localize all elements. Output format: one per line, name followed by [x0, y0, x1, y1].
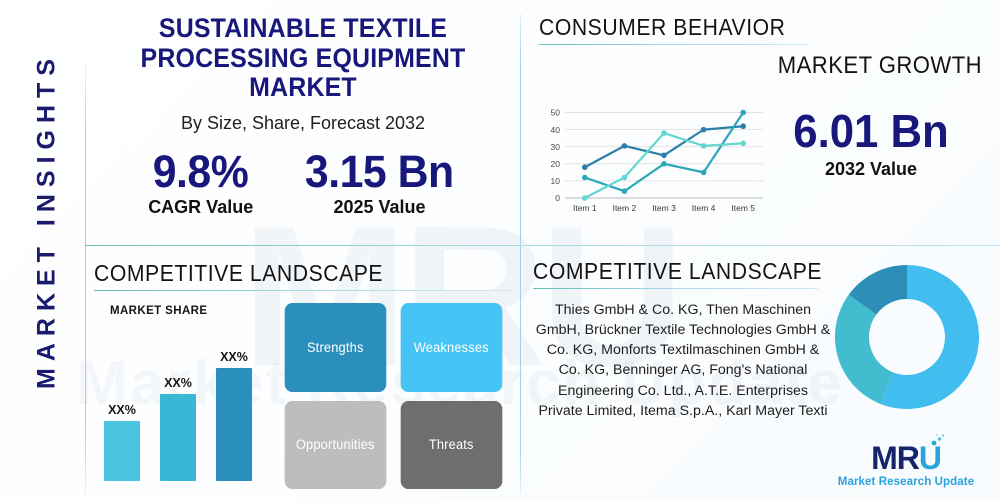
data-point	[701, 170, 707, 176]
stat-2032-caption: 2032 Value	[766, 159, 976, 180]
competitive-landscape-heading-right: COMPETITIVE LANDSCAPE	[533, 258, 795, 285]
competitive-landscape-heading-left: COMPETITIVE LANDSCAPE	[94, 260, 480, 287]
bar-item: XX%	[104, 403, 140, 481]
divider-horizontal	[85, 245, 1000, 246]
bar	[104, 421, 140, 481]
competitive-landscape-heading-wrap: COMPETITIVE LANDSCAPE	[94, 260, 514, 291]
consumer-behavior-line-chart: 01020304050Item 1Item 2Item 3Item 4Item …	[539, 98, 769, 220]
market-growth-heading: MARKET GROWTH	[778, 52, 982, 80]
x-axis-tick-label: Item 3	[652, 203, 676, 213]
page-subtitle: By Size, Share, Forecast 2032	[86, 113, 520, 134]
panel-consumer-behavior: CONSUMER BEHAVIOR MARKET GROWTH 6.01 Bn …	[521, 0, 1000, 245]
swot-cell-label: Weaknesses	[413, 340, 488, 355]
market-growth-stat: 6.01 Bn 2032 Value	[766, 108, 976, 180]
stat-cagr-caption: CAGR Value	[148, 197, 253, 218]
stat-2025-caption: 2025 Value	[301, 197, 458, 218]
consumer-behavior-heading-wrap: CONSUMER BEHAVIOR	[539, 14, 809, 45]
data-point	[661, 130, 667, 136]
panel-competitive-landscape-companies: COMPETITIVE LANDSCAPE Thies GmbH & Co. K…	[521, 246, 1000, 500]
sidebar: MARKET INSIGHTS	[0, 0, 86, 500]
line-series	[585, 113, 743, 192]
data-point	[622, 175, 628, 181]
swot-cell-label: Threats	[428, 437, 473, 452]
bar-chart-bars: XX%XX%XX%	[104, 341, 274, 481]
key-stats-row: 9.8% CAGR Value 3.15 Bn 2025 Value	[86, 148, 520, 218]
donut-segment	[835, 295, 893, 404]
data-point	[661, 161, 667, 167]
bar	[216, 368, 252, 481]
bar	[160, 394, 196, 481]
swot-cell-threats[interactable]: Threats	[400, 401, 501, 490]
y-axis-tick-label: 10	[551, 176, 561, 186]
panel-competitive-landscape-swot: COMPETITIVE LANDSCAPE MARKET SHARE XX%XX…	[86, 246, 520, 500]
data-point	[622, 188, 628, 194]
y-axis-tick-label: 40	[551, 125, 561, 135]
market-share-title: MARKET SHARE	[110, 305, 281, 317]
competitive-landscape-body: MARKET SHARE XX%XX%XX% StrengthsWeakness…	[86, 301, 520, 491]
divider-vertical-center	[520, 14, 521, 494]
y-axis-tick-label: 0	[555, 193, 560, 203]
swot-cell-label: Opportunities	[296, 437, 375, 452]
bar-value-label: XX%	[164, 376, 192, 390]
donut-chart-svg	[832, 262, 982, 412]
stat-cagr-value: 9.8%	[151, 148, 251, 195]
data-point	[582, 164, 588, 170]
bar-item: XX%	[160, 376, 196, 481]
y-axis-tick-label: 20	[551, 159, 561, 169]
logo-wordmark: MRU	[871, 442, 941, 474]
bar-value-label: XX%	[220, 350, 248, 364]
data-point	[701, 127, 707, 133]
market-share-donut-chart	[832, 262, 982, 412]
bar-value-label: XX%	[108, 403, 136, 417]
heading-rule	[539, 44, 809, 45]
companies-heading-wrap: COMPETITIVE LANDSCAPE	[533, 258, 818, 289]
stat-2025-value: 3.15 Bn	[305, 148, 454, 195]
panel-market-overview: SUSTAINABLE TEXTILE PROCESSING EQUIPMENT…	[86, 0, 520, 245]
heading-rule	[94, 290, 514, 291]
consumer-behavior-heading: CONSUMER BEHAVIOR	[539, 14, 787, 41]
market-share-bar-chart: MARKET SHARE XX%XX%XX%	[96, 305, 281, 485]
swot-cell-strengths[interactable]: Strengths	[285, 303, 386, 392]
data-point	[582, 175, 588, 181]
data-point	[622, 143, 628, 149]
line-chart-svg: 01020304050Item 1Item 2Item 3Item 4Item …	[539, 98, 769, 220]
data-point	[701, 143, 707, 149]
infographic-canvas: MRU Market Research Update MARKET INSIGH…	[0, 0, 1000, 500]
heading-rule	[533, 288, 818, 289]
stat-cagr: 9.8% CAGR Value	[148, 148, 253, 218]
company-list: Thies GmbH & Co. KG, Then Maschinen GmbH…	[535, 300, 831, 421]
data-point	[740, 141, 746, 147]
swot-cell-weaknesses[interactable]: Weaknesses	[400, 303, 501, 392]
data-point	[740, 123, 746, 129]
x-axis-tick-label: Item 1	[573, 203, 597, 213]
y-axis-tick-label: 50	[551, 108, 561, 118]
sidebar-label: MARKET INSIGHTS	[33, 11, 62, 431]
x-axis-tick-label: Item 4	[692, 203, 716, 213]
data-point	[740, 110, 746, 116]
mru-logo: MRU Market Research Update	[820, 442, 992, 488]
stat-2025: 3.15 Bn 2025 Value	[301, 148, 458, 218]
data-point	[582, 195, 588, 201]
y-axis-tick-label: 30	[551, 142, 561, 152]
swot-grid: StrengthsWeaknessesOpportunitiesThreats	[282, 303, 504, 489]
x-axis-tick-label: Item 2	[613, 203, 637, 213]
logo-u-text: U	[919, 442, 941, 474]
stat-2032-value: 6.01 Bn	[771, 108, 971, 154]
data-point	[661, 152, 667, 158]
x-axis-tick-label: Item 5	[731, 203, 755, 213]
page-title: SUSTAINABLE TEXTILE PROCESSING EQUIPMENT…	[108, 14, 497, 103]
logo-mr-text: MR	[871, 442, 919, 474]
swot-cell-label: Strengths	[307, 340, 364, 355]
bar-item: XX%	[216, 350, 252, 481]
logo-tagline: Market Research Update	[820, 476, 992, 488]
water-drop-icon	[930, 433, 946, 447]
swot-cell-opportunities[interactable]: Opportunities	[285, 401, 386, 490]
